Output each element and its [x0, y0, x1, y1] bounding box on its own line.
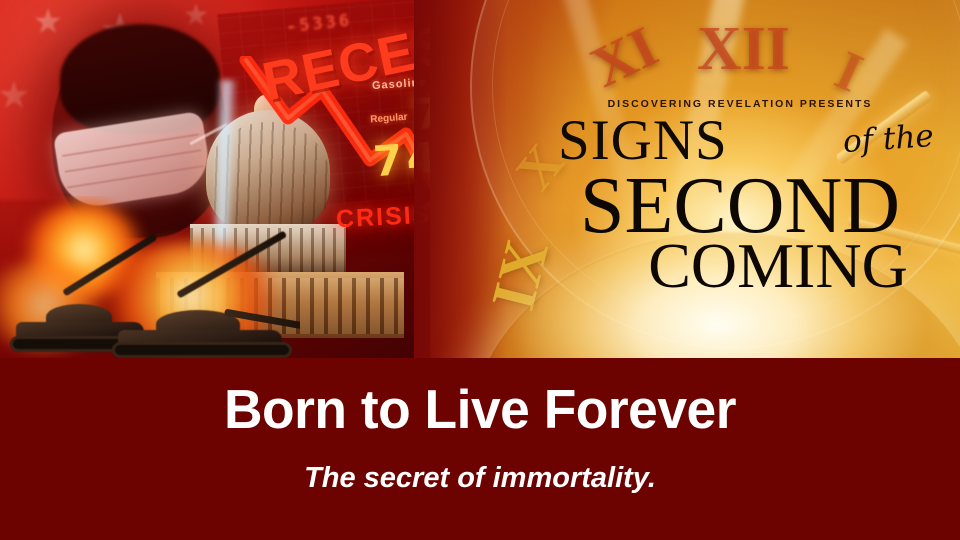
title-line-signs-row: SIGNS of the	[540, 112, 940, 174]
title-word-of-the: of the	[842, 121, 935, 158]
battle-tank	[112, 292, 298, 358]
presentation-slide: -5336 RECESSION CRISIS Gasoline - - - Se…	[0, 0, 960, 540]
slide-artwork: -5336 RECESSION CRISIS Gasoline - - - Se…	[0, 0, 960, 358]
clock-numeral-xii: XII	[697, 18, 790, 80]
sermon-subtitle: The secret of immortality.	[0, 462, 960, 495]
title-banner: Born to Live Forever The secret of immor…	[0, 358, 960, 540]
warzone-image	[0, 196, 300, 358]
title-word-coming: COMING	[616, 236, 940, 297]
gas-grade-label: Regular	[370, 112, 408, 126]
sermon-title: Born to Live Forever	[14, 382, 945, 437]
title-word-signs: SIGNS	[558, 112, 728, 169]
series-title-lockup: DISCOVERING REVELATION PRESENTS SIGNS of…	[540, 98, 940, 296]
